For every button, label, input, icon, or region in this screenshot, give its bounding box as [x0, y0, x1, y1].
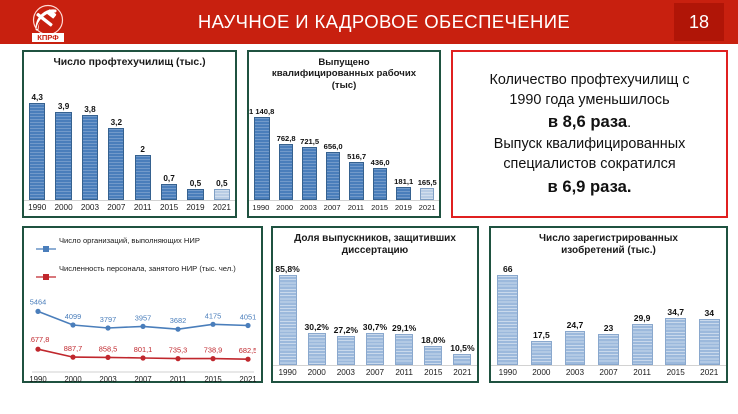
- x-axis-tick: 2021: [415, 203, 439, 212]
- panel-callout: Количество профтехучилищ с 1990 года уме…: [451, 50, 728, 218]
- x-axis-tick: 2015: [659, 368, 693, 377]
- x-axis-tick: 2021: [692, 368, 726, 377]
- bar[interactable]: [326, 152, 341, 200]
- data-point[interactable]: [105, 355, 110, 360]
- bar-value-label: 1 140,8: [249, 107, 274, 116]
- legend-item[interactable]: Число организаций, выполняющих НИР: [36, 236, 253, 258]
- bar-chart-inventions: 6617,524,72329,934,734199020002003200720…: [491, 253, 726, 377]
- bar-value-label: 721,5: [300, 137, 319, 146]
- bar-column[interactable]: 0,7: [156, 81, 182, 200]
- x-axis-tick: 2000: [50, 203, 76, 212]
- bar-chart-vocational-schools: 4,33,93,83,220,70,50,5199020002003200720…: [24, 81, 235, 212]
- data-point-label: 3957: [135, 313, 151, 322]
- bar-value-label: 0,5: [190, 179, 201, 188]
- bar-value-label: 762,8: [277, 134, 296, 143]
- bar-column[interactable]: 3,2: [103, 81, 129, 200]
- bar-column[interactable]: 0,5: [182, 81, 208, 200]
- x-axis-tick: 2007: [320, 203, 344, 212]
- x-axis-tick: 2021: [239, 375, 256, 384]
- line-plot-area: 54644099379739573682417540511677,8887,78…: [30, 292, 256, 388]
- bar-value-label: 29,9: [634, 313, 651, 323]
- bar-plot-area: 6617,524,72329,934,734: [491, 253, 726, 366]
- chart-title-line: Число зарегистрированных: [497, 233, 720, 245]
- bar[interactable]: [632, 324, 653, 365]
- callout-line-4: Выпуск квалифицированных: [494, 134, 686, 154]
- callout-ratio-1: в 8,6 раза: [548, 112, 627, 131]
- bar[interactable]: [279, 275, 297, 365]
- data-point[interactable]: [210, 322, 215, 327]
- bar[interactable]: [29, 103, 45, 200]
- callout-text-block: Количество профтехучилищ с 1990 года уме…: [453, 52, 726, 216]
- data-point[interactable]: [245, 323, 250, 328]
- bar-column[interactable]: 27,2%: [331, 253, 360, 365]
- data-point-label: 735,3: [169, 346, 188, 355]
- bar-column[interactable]: 516,7: [345, 97, 369, 200]
- callout-line-3: в 8,6 раза.: [548, 110, 631, 134]
- x-axis-tick: 1990: [30, 375, 47, 384]
- bar[interactable]: [214, 189, 230, 200]
- bar-value-label: 85,8%: [275, 264, 299, 274]
- bar[interactable]: [366, 333, 384, 365]
- bar-value-label: 3,9: [58, 102, 69, 111]
- bar[interactable]: [254, 117, 270, 200]
- data-point[interactable]: [140, 355, 145, 360]
- bar-value-label: 181,1: [394, 177, 413, 186]
- bar-column[interactable]: 3,8: [77, 81, 103, 200]
- page-title: НАУЧНОЕ И КАДРОВОЕ ОБЕСПЕЧЕНИЕ: [110, 0, 658, 44]
- x-axis-tick: 2000: [64, 375, 82, 384]
- bar-column[interactable]: 18,0%: [419, 253, 448, 365]
- bar[interactable]: [699, 319, 720, 365]
- x-axis-tick: 2021: [209, 203, 235, 212]
- x-axis-tick: 2003: [297, 203, 321, 212]
- x-axis-tick: 2011: [130, 203, 156, 212]
- bar[interactable]: [349, 162, 364, 200]
- bar-value-label: 23: [604, 323, 614, 333]
- bar-column[interactable]: 34: [692, 253, 726, 365]
- x-axis-tick: 2011: [170, 375, 187, 384]
- bar[interactable]: [302, 147, 317, 200]
- chart-title-line: (тыс): [255, 80, 433, 91]
- data-point[interactable]: [35, 309, 40, 314]
- data-point-label: 3682: [170, 316, 186, 325]
- bar-value-label: 34: [704, 308, 714, 318]
- data-point[interactable]: [70, 322, 75, 327]
- data-point[interactable]: [70, 355, 75, 360]
- bar[interactable]: [396, 187, 411, 200]
- legend-marker-icon: [36, 268, 56, 286]
- bar-plot-area: 1 140,8762,8721,5656,0516,7436,0181,1165…: [249, 97, 439, 201]
- slide-root: КПРФ НАУЧНОЕ И КАДРОВОЕ ОБЕСПЕЧЕНИЕ 18 Ч…: [0, 0, 738, 414]
- bar[interactable]: [665, 318, 686, 365]
- bar[interactable]: [337, 336, 355, 365]
- x-axis-tick: 2000: [273, 203, 297, 212]
- data-point[interactable]: [35, 347, 40, 352]
- bar-column[interactable]: 181,1: [392, 97, 416, 200]
- x-axis-tick: 2015: [156, 203, 182, 212]
- kprf-logo-text: КПРФ: [37, 33, 59, 42]
- callout-line-2: 1990 года уменьшилось: [509, 90, 669, 110]
- bar-column[interactable]: 721,5: [298, 97, 322, 200]
- bar-plot-area: 85,8%30,2%27,2%30,7%29,1%18,0%10,5%: [273, 253, 477, 366]
- x-axis-tick: 2003: [331, 368, 360, 377]
- chart-title-line: Число профтехучилищ (тыс.): [30, 57, 229, 69]
- legend-item[interactable]: Численность персонала, занятого НИР (тыс…: [36, 264, 253, 286]
- slide-header: КПРФ НАУЧНОЕ И КАДРОВОЕ ОБЕСПЕЧЕНИЕ 18: [0, 0, 738, 44]
- bar[interactable]: [497, 275, 518, 365]
- x-axis-tick: 1990: [24, 203, 50, 212]
- data-point-label: 1677,8: [30, 335, 49, 344]
- hammer-and-sickle-icon: КПРФ: [24, 3, 72, 43]
- x-axis-tick: 2000: [302, 368, 331, 377]
- x-axis: 1990200020032007201120152021: [273, 368, 477, 377]
- bar[interactable]: [598, 334, 619, 365]
- chart-title-line: Выпущено: [255, 57, 433, 68]
- bar-value-label: 27,2%: [334, 325, 358, 335]
- bar-value-label: 436,0: [371, 158, 390, 167]
- data-point-label: 887,7: [64, 344, 83, 353]
- x-axis-tick: 2007: [592, 368, 626, 377]
- chart-title-line: квалифицированных рабочих: [255, 68, 433, 79]
- panel-dissertations: Доля выпускников, защитившихдиссертацию …: [271, 226, 479, 383]
- bar[interactable]: [531, 341, 552, 365]
- x-axis-tick: 2003: [77, 203, 103, 212]
- bar[interactable]: [373, 168, 388, 200]
- bar-value-label: 2: [140, 145, 145, 154]
- bar-chart-qualified-workers: 1 140,8762,8721,5656,0516,7436,0181,1165…: [249, 97, 439, 212]
- data-point-label: 4099: [65, 312, 81, 321]
- bar[interactable]: [424, 346, 442, 365]
- bar[interactable]: [308, 333, 326, 365]
- callout-line-3-tail: .: [627, 115, 631, 131]
- bar[interactable]: [135, 155, 151, 200]
- x-axis-tick: 2015: [419, 368, 448, 377]
- panel-vocational-schools: Число профтехучилищ (тыс.) 4,33,93,83,22…: [22, 50, 237, 218]
- x-axis-tick: 2019: [182, 203, 208, 212]
- x-axis-tick: 2000: [525, 368, 559, 377]
- bar-column[interactable]: 3,9: [50, 81, 76, 200]
- bar-value-label: 17,5: [533, 330, 550, 340]
- bar[interactable]: [187, 189, 203, 200]
- x-axis-tick: 2007: [103, 203, 129, 212]
- x-axis-tick: 2011: [390, 368, 419, 377]
- x-axis-tick: 2007: [134, 375, 151, 384]
- bar-column[interactable]: 17,5: [525, 253, 559, 365]
- bar[interactable]: [279, 144, 294, 200]
- bar-plot-area: 4,33,93,83,220,70,50,5: [24, 81, 235, 201]
- data-point[interactable]: [175, 356, 180, 361]
- bar-value-label: 34,7: [667, 307, 684, 317]
- x-axis-tick: 2003: [558, 368, 592, 377]
- chart-title-vocational-schools: Число профтехучилищ (тыс.): [30, 57, 229, 69]
- x-axis-tick: 2011: [625, 368, 659, 377]
- bar[interactable]: [55, 112, 71, 200]
- x-axis: 1990200020032007201120152021: [491, 368, 726, 377]
- bar-column[interactable]: 436,0: [368, 97, 392, 200]
- panel-inventions: Число зарегистрированныхизобретений (тыс…: [489, 226, 728, 383]
- x-axis: 19902000200320072011201520192021: [24, 203, 235, 212]
- x-axis-tick: 1990: [249, 203, 273, 212]
- x-axis-tick: 1990: [273, 368, 302, 377]
- x-axis-tick: 1990: [491, 368, 525, 377]
- x-axis-tick: 2007: [360, 368, 389, 377]
- bar-value-label: 24,7: [567, 320, 584, 330]
- bar-column[interactable]: 30,2%: [302, 253, 331, 365]
- bar-column[interactable]: 762,8: [274, 97, 298, 200]
- callout-ratio-2: в 6,9 раза.: [548, 175, 632, 199]
- bar[interactable]: [82, 115, 98, 201]
- callout-line-5: специалистов сократился: [503, 154, 675, 174]
- bar-value-label: 3,2: [111, 118, 122, 127]
- bar-value-label: 165,5: [418, 178, 437, 187]
- bar-value-label: 30,2%: [305, 322, 329, 332]
- x-axis-tick: 2003: [99, 375, 116, 384]
- line-chart-research: 54644099379739573682417540511677,8887,78…: [30, 292, 255, 388]
- bar-column[interactable]: 0,5: [209, 81, 235, 200]
- bar-column[interactable]: 66: [491, 253, 525, 365]
- bar[interactable]: [108, 128, 124, 200]
- bar[interactable]: [565, 331, 586, 365]
- callout-line-1: Количество профтехучилищ с: [489, 70, 689, 90]
- kprf-logo: КПРФ: [22, 2, 74, 44]
- x-axis-tick: 2021: [448, 368, 477, 377]
- data-point-label: 858,5: [99, 344, 118, 353]
- bar-value-label: 0,5: [216, 179, 227, 188]
- data-point[interactable]: [210, 356, 215, 361]
- bar-column[interactable]: 23: [592, 253, 626, 365]
- data-point[interactable]: [140, 324, 145, 329]
- x-axis-tick: 2015: [368, 203, 392, 212]
- legend-label: Численность персонала, занятого НИР (тыс…: [59, 264, 236, 273]
- data-point-label: 738,9: [204, 346, 223, 355]
- bar-value-label: 10,5%: [450, 343, 474, 353]
- bar-value-label: 656,0: [324, 142, 343, 151]
- bar[interactable]: [453, 354, 471, 365]
- bar-value-label: 0,7: [163, 174, 174, 183]
- data-point-label: 682,5: [239, 346, 256, 355]
- panel-research-organizations: Число организаций, выполняющих НИРЧислен…: [22, 226, 263, 383]
- chart-title-qualified-workers: Выпущеноквалифицированных рабочих(тыс): [255, 57, 433, 91]
- data-point-label: 5464: [30, 297, 46, 306]
- chart-title-line: Доля выпускников, защитивших: [279, 233, 471, 245]
- bar-value-label: 4,3: [31, 93, 42, 102]
- chart-legend-research: Число организаций, выполняющих НИРЧислен…: [30, 233, 255, 286]
- bar-value-label: 30,7%: [363, 322, 387, 332]
- legend-label: Число организаций, выполняющих НИР: [59, 236, 200, 245]
- bar-column[interactable]: 29,1%: [390, 253, 419, 365]
- panel-qualified-workers: Выпущеноквалифицированных рабочих(тыс) 1…: [247, 50, 441, 218]
- data-point-label: 4175: [205, 311, 221, 320]
- bar-column[interactable]: 4,3: [24, 81, 50, 200]
- bar-column[interactable]: 165,5: [415, 97, 439, 200]
- bar-column[interactable]: 1 140,8: [249, 97, 274, 200]
- page-number-badge: 18: [674, 3, 724, 41]
- bar-value-label: 18,0%: [421, 335, 445, 345]
- data-point-label: 801,1: [134, 345, 153, 354]
- data-point-label: 3797: [100, 315, 116, 324]
- bar[interactable]: [161, 184, 177, 200]
- x-axis-tick: 2019: [392, 203, 416, 212]
- bar-column[interactable]: 29,9: [625, 253, 659, 365]
- bar[interactable]: [420, 188, 435, 200]
- data-point[interactable]: [105, 325, 110, 330]
- bar-value-label: 516,7: [347, 152, 366, 161]
- bar-column[interactable]: 10,5%: [448, 253, 477, 365]
- bar-column[interactable]: 24,7: [558, 253, 592, 365]
- bar-value-label: 29,1%: [392, 323, 416, 333]
- legend-marker-icon: [36, 240, 56, 258]
- data-point[interactable]: [245, 357, 250, 362]
- x-axis: 19902000200320072011201520192021: [249, 203, 439, 212]
- x-axis-tick: 2011: [344, 203, 368, 212]
- bar[interactable]: [395, 334, 413, 365]
- data-point[interactable]: [175, 327, 180, 332]
- bar-column[interactable]: 85,8%: [273, 253, 302, 365]
- bar-column[interactable]: 656,0: [321, 97, 345, 200]
- bar-chart-dissertations: 85,8%30,2%27,2%30,7%29,1%18,0%10,5%19902…: [273, 253, 477, 377]
- bar-column[interactable]: 2: [130, 81, 156, 200]
- bar-value-label: 3,8: [84, 105, 95, 114]
- x-axis-tick: 2015: [204, 375, 222, 384]
- bar-value-label: 66: [503, 264, 513, 274]
- bar-column[interactable]: 34,7: [659, 253, 693, 365]
- data-point-label: 4051: [240, 313, 256, 322]
- bar-column[interactable]: 30,7%: [360, 253, 389, 365]
